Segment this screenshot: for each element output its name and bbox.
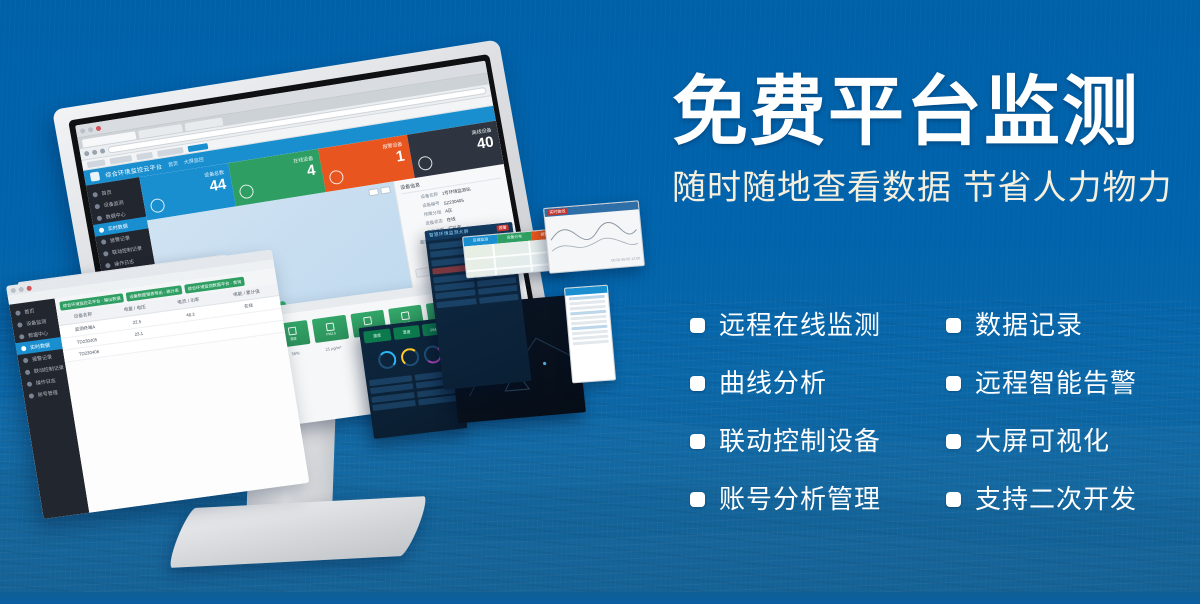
feature-item-linkage-control: 联动控制设备 [690,426,946,456]
info-value: 在线 [446,216,456,223]
side-list-item[interactable] [573,340,609,346]
sidebar-item-label: 账号管理 [37,388,58,398]
bookmark-item[interactable] [87,159,106,168]
feature-item-data-record: 数据记录 [946,310,1162,340]
map-tools[interactable] [368,186,391,196]
link-icon [25,369,31,375]
bullet-icon [690,376,705,391]
gauge-blue [377,350,397,370]
window-minimize-icon[interactable] [80,128,86,134]
log-icon [105,262,111,268]
sidebar-item-label: 设备监测 [26,317,47,327]
home-icon [15,310,21,316]
info-value: SZ230405 [443,197,464,205]
feature-item-smart-alarm: 远程智能告警 [946,368,1162,398]
window-close-icon[interactable] [26,285,32,291]
back-icon[interactable] [84,151,90,157]
reload-icon[interactable] [100,148,106,154]
sidebar-item-label: 数据中心 [28,329,49,339]
gauge-yellow [400,347,420,367]
bullet-icon [690,434,705,449]
sensor-icon [363,316,372,325]
dark-kpi-humidity: 湿度 [393,325,421,340]
bell-icon [23,357,29,363]
cloud-icon [90,171,100,181]
bell-icon [101,239,107,245]
page-subtitle: 随时随地查看数据 节省人力物力 [672,168,1172,208]
feature-label: 联动控制设备 [719,426,881,456]
sensor-card[interactable]: PM2.5 [312,315,349,343]
alarm-badge: 报警 [496,224,509,231]
user-icon [28,393,34,399]
monitor-icon [17,322,23,328]
promo-copy: 免费平台监测 随时随地查看数据 节省人力物力 [672,72,1172,208]
window-minimize-icon[interactable] [10,287,16,293]
bullet-icon [690,492,705,507]
zoom-out-button[interactable] [380,186,391,194]
sensor-value: 21 μg/m³ [317,343,351,352]
sensor-icon [401,311,410,320]
app-menu-home[interactable]: 首页 [168,160,179,168]
bell-icon [328,169,344,185]
monitor-icon [94,203,100,209]
bullet-icon [946,318,961,333]
link-icon [103,250,109,256]
dark-kpi-temp: 温度 [363,328,391,343]
app-menu-bigscreen[interactable]: 大屏监控 [183,156,204,166]
home-icon [92,191,98,197]
feature-item-secondary-development: 支持二次开发 [946,484,1162,514]
feature-label: 曲线分析 [719,368,827,398]
window-maximize-icon[interactable] [88,126,94,132]
forward-icon[interactable] [92,149,98,155]
promo-banner: 综合环境监控云平台 首页 大屏监控 首页 [0,0,1200,604]
feature-label: 数据记录 [975,310,1083,340]
sensor-icon [287,327,296,336]
bullet-icon [946,376,961,391]
sidebar-item-label: 首页 [24,307,35,315]
data-icon [96,215,102,221]
sensor-label: 湿度 [289,336,297,342]
feature-item-bigscreen: 大屏可视化 [946,426,1162,456]
trend-chart-window: 实时曲线 00:00 06:00 12:00 [543,200,645,274]
chart-plot [545,209,643,259]
zoom-in-button[interactable] [368,188,379,196]
feature-item-account-management: 账号分析管理 [690,484,946,514]
feature-label: 远程在线监测 [719,310,881,340]
sidebar-item-label: 首页 [101,188,112,196]
sidebar-item-label: 实时数据 [30,341,51,351]
feature-label: 大屏可视化 [975,426,1110,456]
data-table-window: 首页 设备监测 数据中心 实时数据 报警记录 [6,250,309,519]
feature-label: 支持二次开发 [975,484,1137,514]
data-icon [19,334,25,340]
side-list-window [564,285,616,384]
sidebar-item-label: 数据中心 [105,210,126,220]
sidebar-item-label: 设备监测 [103,198,124,208]
live-icon [21,345,27,351]
bullet-icon [690,318,705,333]
bullet-icon [946,434,961,449]
sensor-icon [325,322,334,331]
log-icon [27,381,33,387]
sensor-label: PM2.5 [326,331,336,336]
sidebar-item-label: 报警记录 [109,234,130,244]
window-close-icon[interactable] [96,125,102,131]
window-maximize-icon[interactable] [18,286,24,292]
sidebar-item-label: 报警记录 [31,353,52,363]
bookmark-item[interactable] [136,151,153,159]
feature-list: 远程在线监测 数据记录 曲线分析 远程智能告警 联动控制设备 大屏可视化 账号分… [690,310,1162,514]
feature-item-curve-analysis: 曲线分析 [690,368,946,398]
bullet-icon [946,492,961,507]
bottom-strip [0,592,1200,604]
chart-axis-note: 00:00 06:00 12:00 [549,256,643,268]
feature-item-remote-monitoring: 远程在线监测 [690,310,946,340]
sidebar-item-label: 操作日志 [35,377,56,387]
feature-label: 账号分析管理 [719,484,881,514]
bookmark-item-active[interactable] [187,143,208,152]
page-title: 免费平台监测 [672,72,1172,154]
sidebar-item-label: 实时数据 [107,222,128,232]
info-value: A区 [445,208,453,215]
feature-label: 远程智能告警 [975,368,1137,398]
live-icon [99,227,105,233]
